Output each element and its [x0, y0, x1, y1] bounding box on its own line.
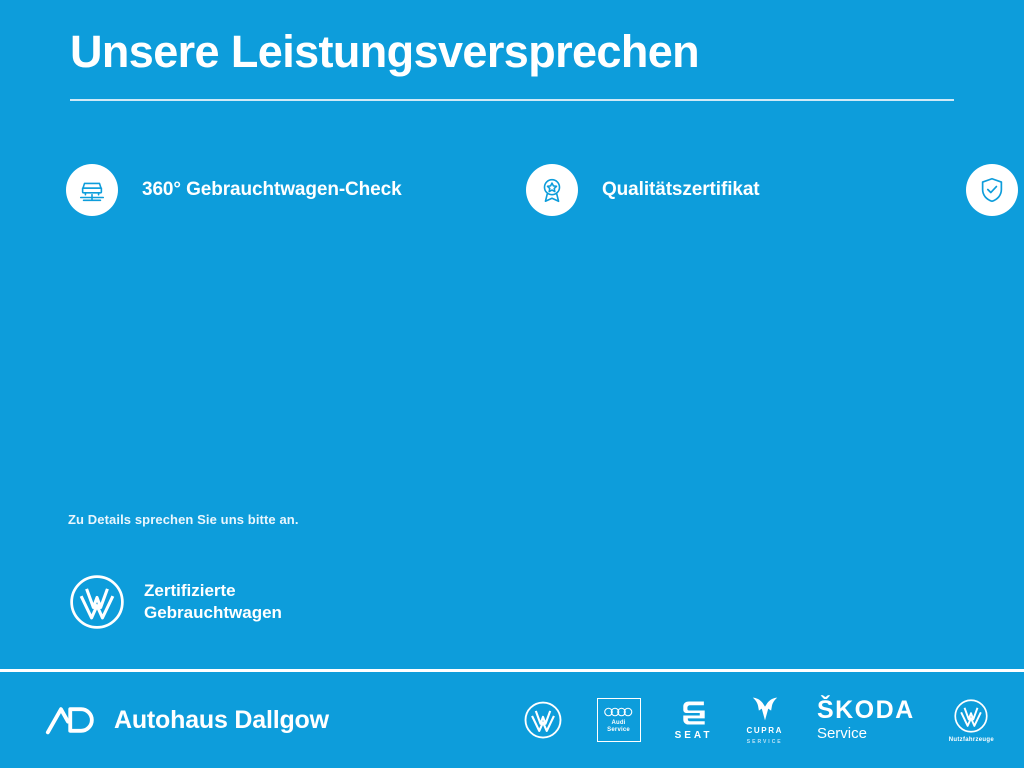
certified-line2: Gebrauchtwagen: [144, 602, 282, 624]
benefits-grid: 360° Gebrauchtwagen-Check Qualitätszerti…: [66, 158, 966, 222]
brand-vw-nutzfahrzeuge: Nutzfahrzeuge: [949, 691, 994, 749]
certified-used-cars-block: Zertifizierte Gebrauchtwagen: [68, 573, 282, 631]
dealer-branding: Autohaus Dallgow: [44, 703, 329, 737]
benefit-item: 360° Gebrauchtwagen-Check: [66, 158, 526, 222]
benefit-label: 360° Gebrauchtwagen-Check: [142, 179, 402, 201]
title-divider: [70, 99, 954, 101]
skoda-logo-wrap: ŠKODA Service: [817, 698, 915, 743]
seat-logo-wrap: SEAT: [675, 699, 713, 741]
cupra-icon: [751, 696, 779, 722]
details-note: Zu Details sprechen Sie uns bitte an.: [68, 512, 299, 527]
brand-logos: Audi Service SEAT CUPRA SERVICE: [523, 691, 994, 749]
vw-nutzfahrzeuge-wrap: Nutzfahrzeuge: [949, 698, 994, 743]
cupra-label: CUPRA: [747, 726, 783, 735]
seat-label: SEAT: [675, 730, 713, 741]
audi-line1: Audi: [607, 720, 630, 727]
audi-line2: Service: [607, 727, 630, 734]
skoda-sublabel: Service: [817, 725, 867, 743]
volkswagen-logo: [953, 698, 989, 734]
brand-cupra-service: CUPRA SERVICE: [747, 691, 783, 749]
audi-rings-icon: [604, 707, 634, 717]
benefit-label: Qualitätszertifikat: [602, 179, 760, 201]
skoda-label: ŠKODA: [817, 698, 915, 723]
brand-volkswagen: [523, 691, 563, 749]
dealer-name: Autohaus Dallgow: [114, 706, 329, 735]
audi-service-label: Audi Service: [607, 720, 630, 734]
benefit-item: Gebrauchtwagengarantie: [966, 158, 1024, 222]
cupra-logo-wrap: CUPRA SERVICE: [747, 696, 783, 745]
brand-seat: SEAT: [675, 691, 713, 749]
page-title: Unsere Leistungsversprechen: [70, 28, 954, 75]
car-inspection-icon: [66, 164, 118, 216]
certified-text: Zertifizierte Gebrauchtwagen: [144, 580, 282, 624]
cupra-sublabel: SERVICE: [747, 739, 783, 745]
benefit-item: Qualitätszertifikat: [526, 158, 966, 222]
volkswagen-logo: [68, 573, 126, 631]
audi-service-box: Audi Service: [597, 698, 641, 742]
footer: Autohaus Dallgow Audi Servi: [0, 672, 1024, 768]
vw-nutzfahrzeuge-label: Nutzfahrzeuge: [949, 737, 994, 743]
seat-s-icon: [681, 699, 707, 727]
volkswagen-logo: [523, 700, 563, 740]
shield-check-icon: [966, 164, 1018, 216]
brand-skoda-service: ŠKODA Service: [817, 691, 915, 749]
header: Unsere Leistungsversprechen: [70, 28, 954, 101]
award-rosette-icon: [526, 164, 578, 216]
brand-audi-service: Audi Service: [597, 691, 641, 749]
autohaus-dallgow-ad-logo: [44, 703, 98, 737]
certified-line1: Zertifizierte: [144, 580, 282, 602]
